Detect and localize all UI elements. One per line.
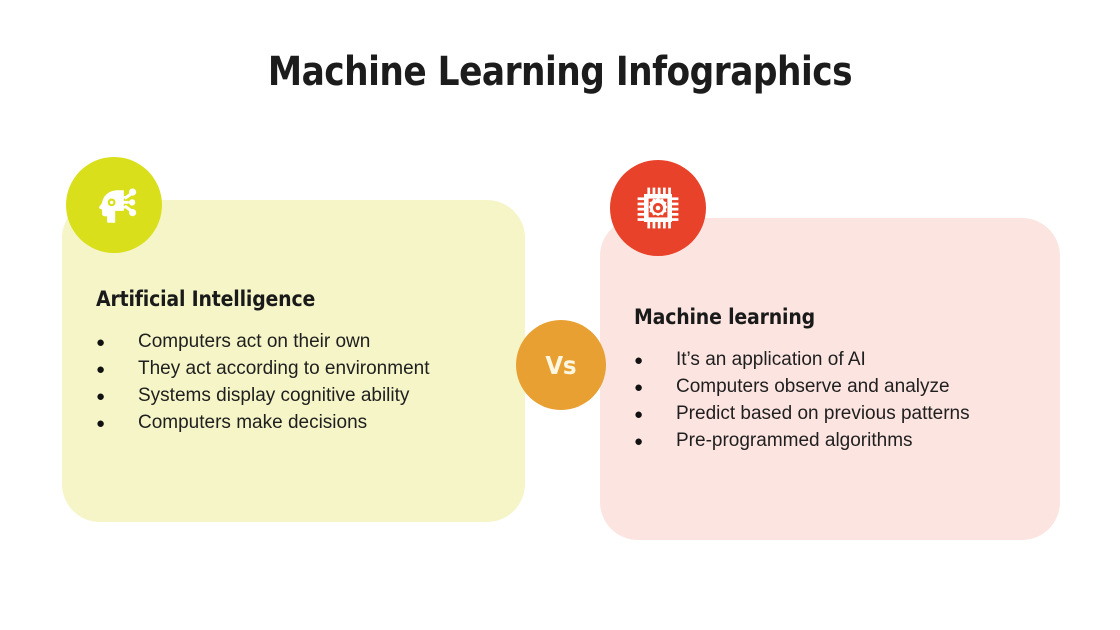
card-machine-learning: Machine learning ● It’s an application o…: [600, 218, 1060, 540]
vs-badge: Vs: [516, 320, 606, 410]
list-item: ● It’s an application of AI: [634, 347, 1042, 374]
card-heading-machine-learning: Machine learning: [634, 304, 1001, 330]
list-item: ● Systems display cognitive ability: [96, 383, 507, 410]
page-title: Machine Learning Infographics: [78, 48, 1041, 96]
list-item: ● Predict based on previous patterns: [634, 401, 1042, 428]
bullet-dot-icon: ●: [96, 357, 138, 383]
list-item-label: Computers make decisions: [138, 410, 367, 436]
card-body-machine-learning: Machine learning ● It’s an application o…: [634, 304, 1042, 455]
list-item: ● Computers act on their own: [96, 329, 507, 356]
bullet-list-artificial-intelligence: ● Computers act on their own ● They act …: [96, 329, 507, 437]
list-item-label: Computers act on their own: [138, 329, 370, 355]
list-item-label: It’s an application of AI: [676, 347, 866, 373]
bullet-dot-icon: ●: [96, 384, 138, 410]
bullet-dot-icon: ●: [634, 375, 676, 401]
bullet-dot-icon: ●: [634, 429, 676, 455]
bullet-dot-icon: ●: [96, 411, 138, 437]
bullet-dot-icon: ●: [634, 348, 676, 374]
list-item-label: Predict based on previous patterns: [676, 401, 970, 427]
microchip-gear-icon: [631, 181, 685, 235]
head-circuit-icon: [86, 177, 142, 233]
list-item: ● Computers observe and analyze: [634, 374, 1042, 401]
card-body-artificial-intelligence: Artificial Intelligence ● Computers act …: [96, 286, 507, 437]
list-item-label: Systems display cognitive ability: [138, 383, 409, 409]
badge-machine-learning: [610, 160, 706, 256]
list-item-label: They act according to environment: [138, 356, 430, 382]
bullet-list-machine-learning: ● It’s an application of AI ● Computers …: [634, 347, 1042, 455]
slide-canvas: Machine Learning Infographics Artificial…: [0, 0, 1120, 630]
badge-artificial-intelligence: [66, 157, 162, 253]
list-item: ● Computers make decisions: [96, 410, 507, 437]
card-heading-artificial-intelligence: Artificial Intelligence: [96, 286, 466, 312]
list-item-label: Pre-programmed algorithms: [676, 428, 913, 454]
bullet-dot-icon: ●: [634, 402, 676, 428]
list-item: ● Pre-programmed algorithms: [634, 428, 1042, 455]
list-item-label: Computers observe and analyze: [676, 374, 950, 400]
vs-label: Vs: [546, 351, 577, 380]
bullet-dot-icon: ●: [96, 330, 138, 356]
list-item: ● They act according to environment: [96, 356, 507, 383]
